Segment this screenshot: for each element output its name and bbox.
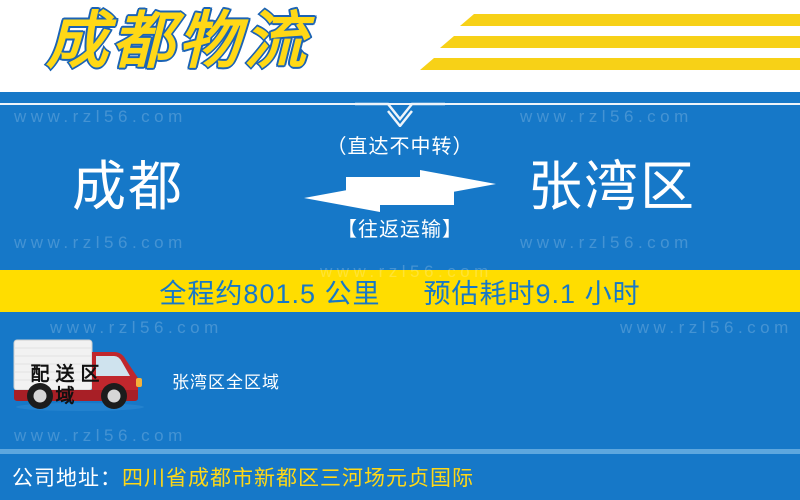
- stats-bar: 全程约801.5 公里 预估耗时9.1 小时: [0, 270, 800, 312]
- banner-footer: 公司地址： 四川省成都市新都区三河场元贞国际: [0, 454, 800, 500]
- duration-text: 预估耗时9.1 小时: [424, 279, 641, 309]
- distance-text: 全程约801.5 公里: [159, 279, 380, 309]
- route-note-bottom: 【往返运输】: [275, 216, 525, 244]
- stripe-2: [440, 36, 800, 48]
- route-middle-block: （直达不中转） 【往返运输】: [275, 132, 525, 244]
- stats-text-group: 全程约801.5 公里 预估耗时9.1 小时: [159, 272, 640, 311]
- delivery-truck-icon: 配送区域: [10, 334, 152, 412]
- banner-header: 成都物流: [0, 0, 800, 92]
- stripe-3: [420, 58, 800, 70]
- stripe-1: [460, 14, 800, 26]
- delivery-coverage-label: 张湾区全区域: [172, 368, 280, 393]
- route-note-top: （直达不中转）: [275, 132, 525, 162]
- decorative-stripes: [420, 14, 800, 76]
- address-label: 公司地址：: [12, 462, 122, 492]
- route-section: 成都 （直达不中转） 【往返运输】 张湾区: [0, 92, 800, 270]
- double-chevron-down-icon: [355, 97, 445, 127]
- brand-title: 成都物流: [46, 2, 310, 82]
- address-value: 四川省成都市新都区三河场元贞国际: [122, 462, 474, 492]
- route-row: 成都 （直达不中转） 【往返运输】 张湾区: [0, 132, 800, 262]
- origin-city: 成都: [72, 152, 184, 222]
- delivery-section: 配送区域 张湾区全区域: [0, 312, 800, 449]
- logistics-banner: 成都物流 成都 （直达不中转）: [0, 0, 800, 500]
- destination-city: 张湾区: [528, 152, 696, 222]
- double-arrow-icon: [300, 168, 500, 214]
